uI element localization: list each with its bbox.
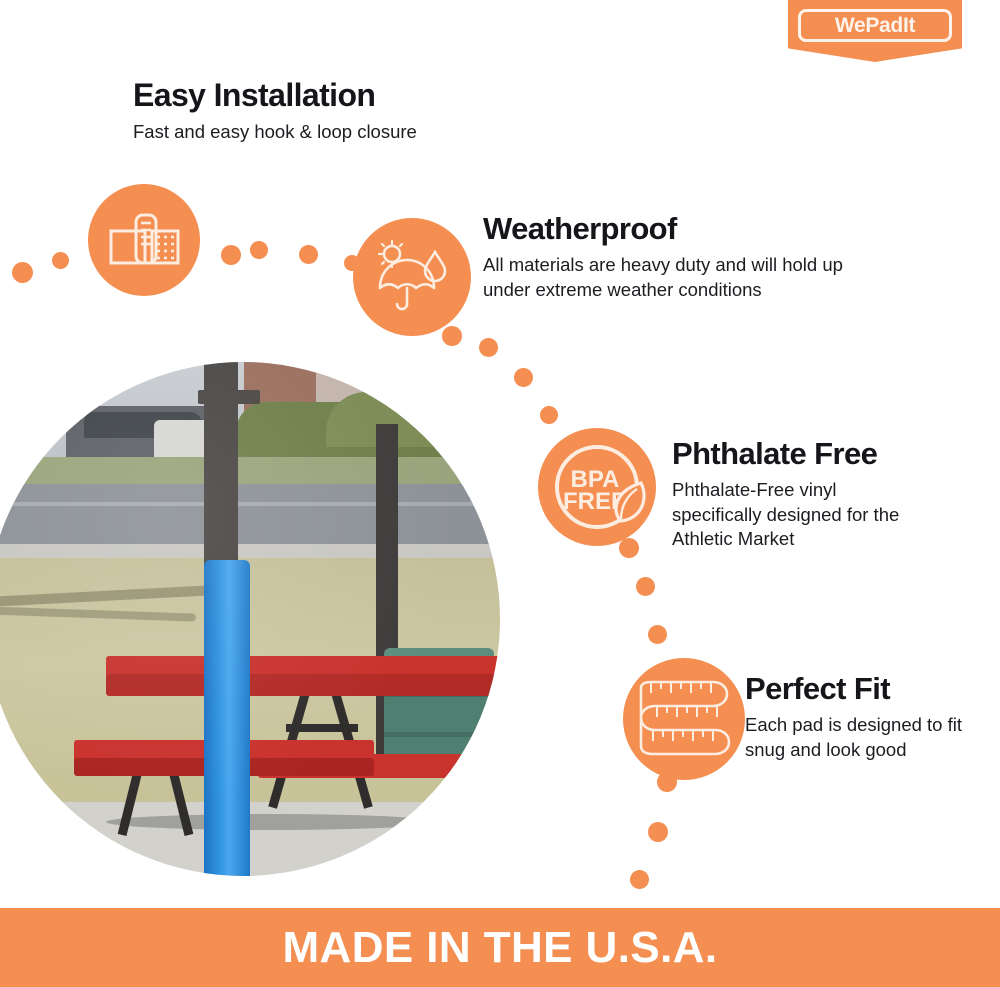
building-installation-icon (88, 184, 200, 296)
feature-weatherproof: Weatherproof All materials are heavy dut… (483, 212, 883, 302)
feature-title: Easy Installation (133, 78, 417, 113)
path-dot (52, 252, 69, 269)
feature-phthalate-free: Phthalate Free Phthalate-Free vinyl spec… (672, 437, 930, 552)
logo-plate: WePadIt (798, 9, 952, 42)
path-dot (12, 262, 33, 283)
product-photo-circle (0, 362, 500, 876)
made-in-usa-text: MADE IN THE U.S.A. (283, 923, 718, 973)
feature-description: All materials are heavy duty and will ho… (483, 253, 883, 302)
feature-title: Phthalate Free (672, 437, 930, 471)
path-dot (221, 245, 241, 265)
path-dot (540, 406, 558, 424)
made-in-usa-banner: MADE IN THE U.S.A. (0, 908, 1000, 987)
bpa-free-leaf-icon: BPA FREE (538, 428, 656, 546)
path-dot (514, 368, 533, 387)
photo-glare (0, 362, 500, 876)
path-dot (442, 326, 462, 346)
path-dot (630, 870, 649, 889)
feature-title: Weatherproof (483, 212, 883, 246)
umbrella-sun-raindrop-icon (353, 218, 471, 336)
path-dot (636, 577, 655, 596)
logo-text: WePadIt (835, 15, 915, 36)
feature-infographic-page: WePadIt (0, 0, 1000, 987)
feature-title: Perfect Fit (745, 672, 969, 706)
path-dot (619, 538, 639, 558)
path-dot (479, 338, 498, 357)
path-dot (299, 245, 318, 264)
feature-description: Phthalate-Free vinyl specifically design… (672, 478, 930, 552)
feature-description: Each pad is designed to fit snug and loo… (745, 713, 969, 762)
feature-easy-installation: Easy Installation Fast and easy hook & l… (133, 78, 417, 145)
path-dot (648, 822, 668, 842)
feature-description: Fast and easy hook & loop closure (133, 120, 417, 145)
feature-perfect-fit: Perfect Fit Each pad is designed to fit … (745, 672, 969, 762)
wepadit-logo: WePadIt (788, 0, 962, 62)
measuring-tape-icon (623, 658, 745, 780)
path-dot (648, 625, 667, 644)
path-dot (250, 241, 268, 259)
